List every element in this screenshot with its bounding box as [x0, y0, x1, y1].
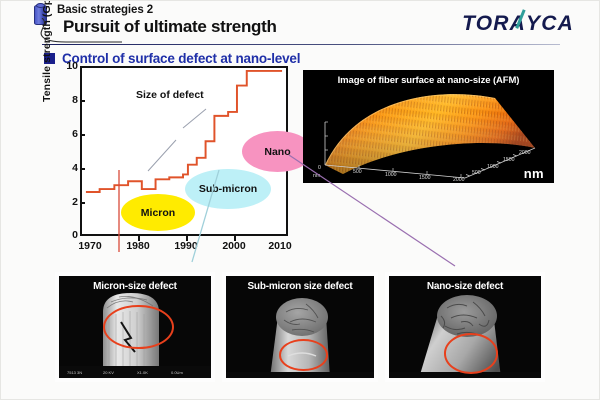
- panel-micron-defect: Micron-size defect: [55, 272, 215, 382]
- red-circle-annotation-micron: [103, 305, 174, 350]
- x-tick-1970: 1970: [78, 240, 101, 252]
- svg-text:X1.0K: X1.0K: [137, 370, 148, 375]
- panel-caption-sub-micron: Sub-micron size defect: [226, 281, 374, 292]
- slide-kicker: Basic strategies 2: [57, 4, 153, 16]
- chart-plot-area: Size of defect Micron Sub-micron Nano: [80, 66, 288, 236]
- afm-x-tick-1000: 1000: [385, 172, 397, 178]
- y-tick-4: 4: [56, 162, 78, 174]
- section-heading-row: Control of surface defect at nano-level: [44, 51, 300, 66]
- afm-d-tick-2000: 2000: [519, 150, 531, 156]
- y-tick-0: 0: [56, 229, 78, 241]
- logo-text-part2: CA: [541, 12, 574, 35]
- y-tick-2: 2: [56, 196, 78, 208]
- panel-sub-micron-defect: Sub-micron size defect: [222, 272, 378, 382]
- section-heading: Control of surface defect at nano-level: [62, 51, 300, 66]
- tensile-strength-chart: Tensile strength (Gpa) Size of defect Mi…: [47, 66, 289, 256]
- y-tick-6: 6: [56, 128, 78, 140]
- panel-caption-nano: Nano-size defect: [389, 281, 541, 292]
- red-circle-annotation-nano: [444, 333, 498, 374]
- y-axis-label: Tensile strength (Gpa): [41, 0, 53, 102]
- afm-vertical-unit: nm: [313, 173, 320, 179]
- svg-text:7513 3N: 7513 3N: [67, 370, 82, 375]
- afm-origin-label: 0: [318, 165, 321, 171]
- logo-slash-accent: Y: [526, 12, 541, 36]
- svg-text:20 KV: 20 KV: [103, 370, 114, 375]
- x-tick-2000: 2000: [222, 240, 245, 252]
- annotation-micron: Micron: [121, 194, 195, 231]
- afm-image-panel: Image of fiber surface at nano-size (AFM…: [303, 70, 554, 183]
- afm-surface-render: [303, 70, 554, 183]
- annotation-sub-micron: Sub-micron: [185, 169, 271, 209]
- y-tick-8: 8: [56, 94, 78, 106]
- header-divider: [42, 44, 560, 45]
- afm-d-tick-1000: 1000: [487, 164, 499, 170]
- x-tick-1990: 1990: [174, 240, 197, 252]
- red-circle-annotation-sub-micron: [279, 339, 327, 371]
- slide: Basic strategies 2 Pursuit of ultimate s…: [0, 0, 600, 400]
- panel-caption-micron: Micron-size defect: [59, 281, 211, 292]
- afm-x-tick-500: 500: [353, 169, 362, 175]
- x-tick-2010: 2010: [268, 240, 291, 252]
- afm-x-tick-1500: 1500: [419, 175, 431, 181]
- afm-unit-label: nm: [524, 166, 544, 181]
- svg-text:0.0Um: 0.0Um: [171, 370, 183, 375]
- page-title: Pursuit of ultimate strength: [63, 17, 277, 37]
- afm-x-tick-2000: 2000: [453, 177, 465, 183]
- torayca-logo: TORAYCA: [462, 12, 574, 36]
- panel-nano-defect: Nano-size defect: [385, 272, 545, 382]
- afm-d-tick-1500: 1500: [503, 157, 515, 163]
- y-tick-10: 10: [56, 60, 78, 72]
- x-tick-1980: 1980: [126, 240, 149, 252]
- afm-d-tick-500: 500: [472, 170, 481, 176]
